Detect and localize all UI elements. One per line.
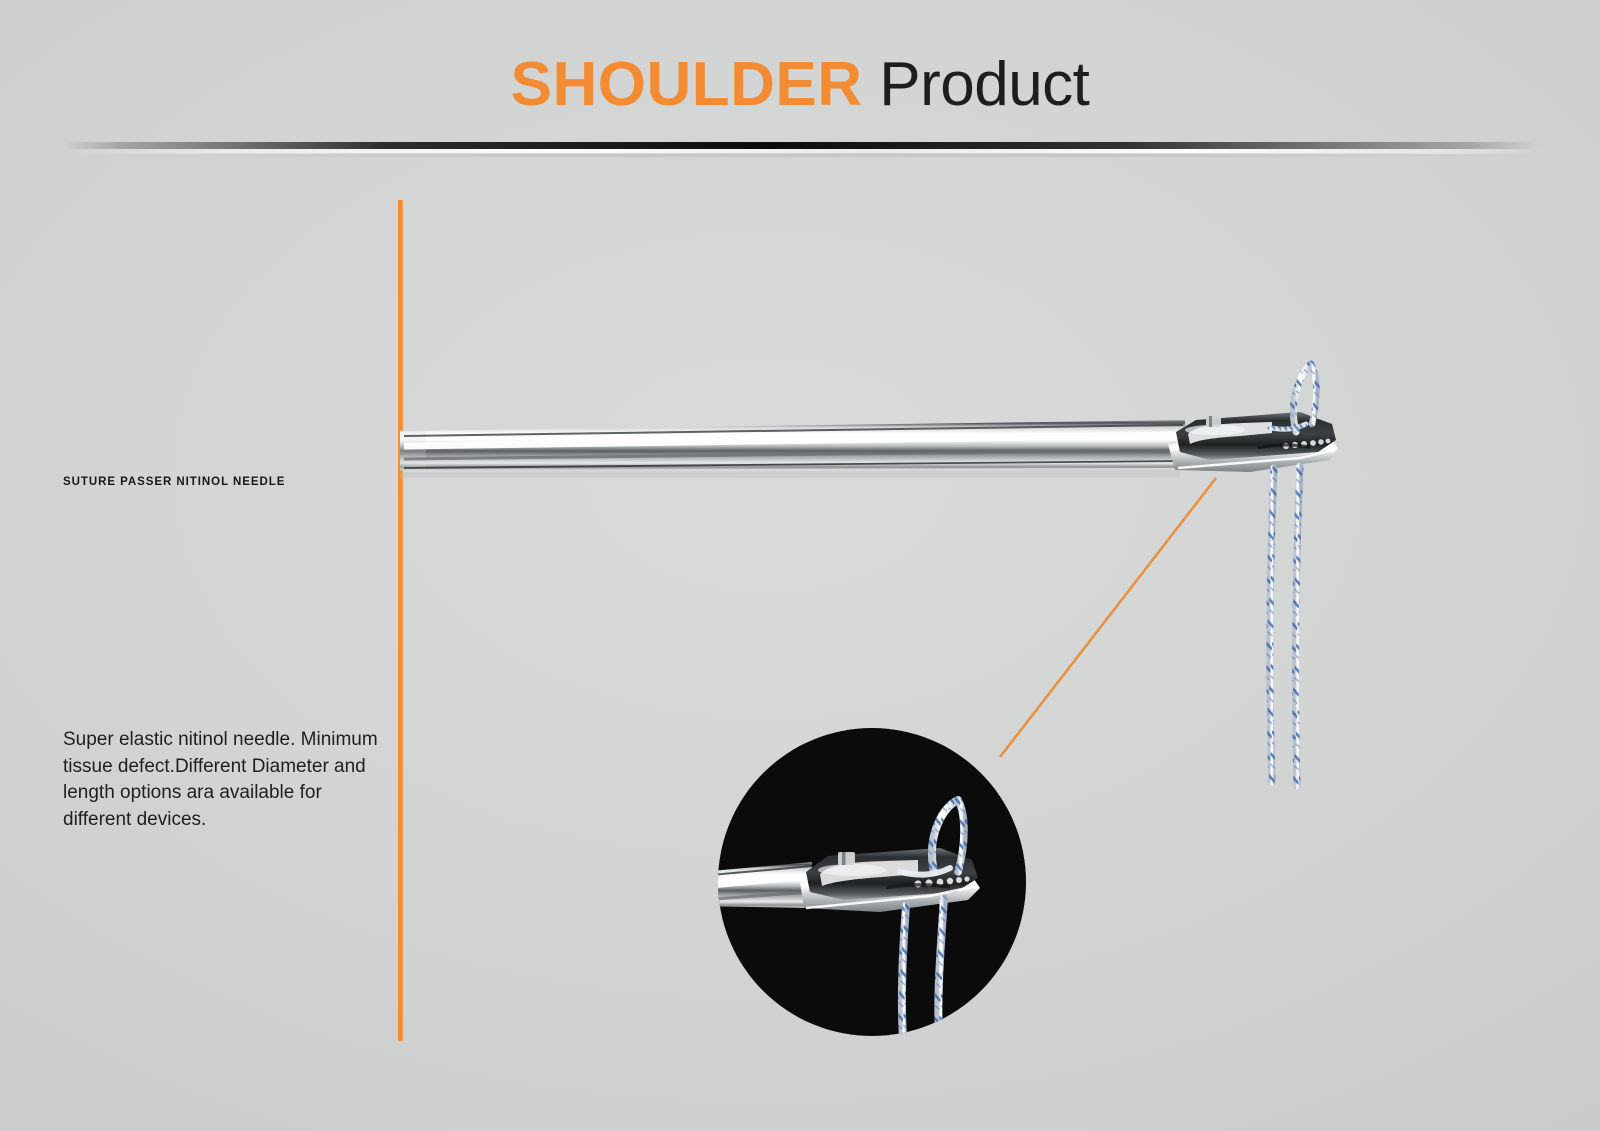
needle-tip-eyelet xyxy=(1168,412,1338,472)
page-title-light: Product xyxy=(879,50,1089,119)
magnifier-circle xyxy=(700,728,1026,1048)
header-divider xyxy=(62,142,1540,160)
needle-tip-serrations xyxy=(1283,439,1331,450)
needle-eyelet-slot xyxy=(1188,422,1272,444)
needle-tip-upper xyxy=(1176,412,1336,460)
page-title: SHOULDER Product xyxy=(0,52,1600,117)
poster-page: SHOULDER Product SUTURE PASSER NITINOL N… xyxy=(0,0,1600,1131)
suture-threads-main xyxy=(1270,364,1317,786)
needle-shaft xyxy=(400,420,1185,470)
needle-shaft-group xyxy=(400,420,1185,478)
suture-tail-right xyxy=(1296,466,1300,786)
header-divider-dark-bar xyxy=(62,142,1540,149)
page-title-strong: SHOULDER xyxy=(511,50,863,119)
needle-illustration xyxy=(0,0,1600,1131)
product-kicker-label: SUTURE PASSER NITINOL NEEDLE xyxy=(63,476,285,488)
suture-tail-left xyxy=(1270,468,1274,782)
page-title-spacer xyxy=(863,50,880,119)
product-description: Super elastic nitinol needle. Minimum ti… xyxy=(63,727,393,833)
orange-vertical-rule xyxy=(398,200,403,1041)
header-divider-shadow xyxy=(62,153,1540,157)
callout-leader-line xyxy=(1000,478,1216,757)
